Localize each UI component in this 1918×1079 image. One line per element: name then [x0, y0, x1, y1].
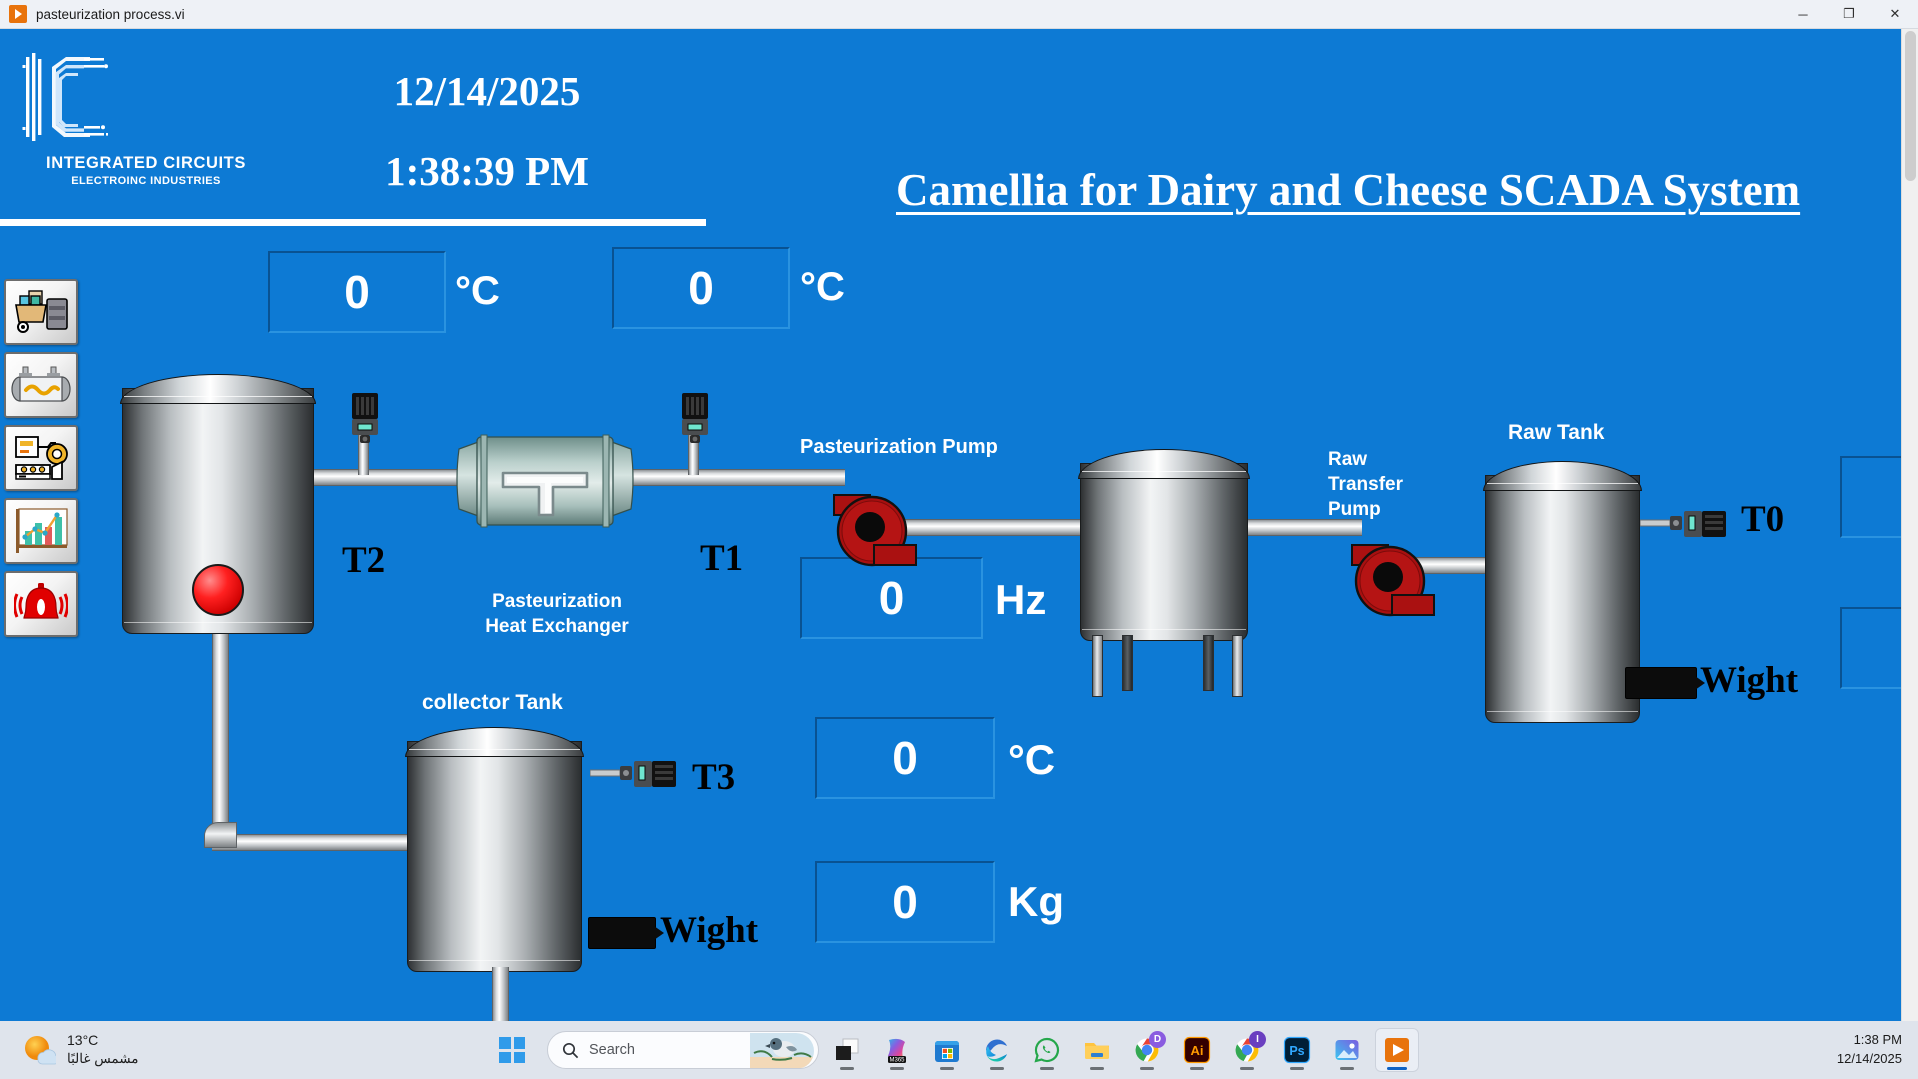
task-view-icon [834, 1037, 860, 1063]
balance-tank[interactable] [1080, 449, 1248, 641]
sidebar-item-production[interactable] [4, 425, 78, 491]
t1-sensor[interactable] [678, 393, 712, 454]
search-bird-image [750, 1033, 814, 1069]
running-indicator [1387, 1067, 1407, 1070]
collector-weight-transmitter[interactable] [588, 917, 656, 949]
running-indicator [1190, 1067, 1204, 1070]
svg-text:M365: M365 [889, 1058, 905, 1064]
taskbar-app-microsoft-edge[interactable] [975, 1028, 1019, 1072]
collector-tank[interactable] [407, 727, 582, 972]
labview-run-icon [9, 5, 27, 23]
search-placeholder: Search [589, 1042, 635, 1058]
whatsapp-icon [1033, 1036, 1061, 1064]
taskbar-app-microsoft-store[interactable] [925, 1028, 969, 1072]
heat-exchanger-label-line1: Pasteurization [452, 589, 662, 614]
pasteurizer-status-lamp[interactable] [192, 564, 244, 616]
ic-circuit-logo [22, 51, 108, 143]
taskbar-app-google-chrome-i[interactable]: I [1225, 1028, 1269, 1072]
pasteurization-pump-label: Pasteurization Pump [800, 434, 998, 460]
tank-base [1082, 629, 1246, 637]
taskbar-center-group: Search [499, 1028, 1419, 1072]
heat-exchanger-label: Pasteurization Heat Exchanger [452, 589, 662, 639]
company-logo-block: INTEGRATED CIRCUITS ELECTROINC INDUSTRIE… [12, 51, 292, 187]
tank-rim [124, 396, 312, 404]
taskbar-app-google-chrome-d[interactable]: D [1125, 1028, 1169, 1072]
sidebar-item-alarms[interactable] [4, 571, 78, 637]
t2-temperature-value: 0 [344, 265, 370, 319]
t3-sensor[interactable] [590, 757, 680, 796]
heat-exchanger-label-line2: Heat Exchanger [452, 614, 662, 639]
pipe-pasteurizer-drop [212, 629, 229, 839]
chrome-profile-badge: D [1149, 1031, 1166, 1048]
tank-body [407, 741, 582, 972]
microsoft-365-icon: M365 [883, 1036, 911, 1064]
running-indicator [1290, 1067, 1304, 1070]
t1-tag-label: T1 [700, 537, 743, 580]
window-title: pasteurization process.vi [36, 7, 185, 22]
vertical-scrollbar[interactable]: ▲ ▼ [1901, 29, 1918, 1049]
tank-rim [1082, 471, 1246, 479]
sidebar-item-trends[interactable] [4, 498, 78, 564]
taskbar-app-task-view[interactable] [825, 1028, 869, 1072]
taskbar-app-photos[interactable] [1325, 1028, 1369, 1072]
alarm-bell-icon [14, 581, 68, 627]
date-display: 12/14/2025 [337, 67, 637, 115]
adobe-illustrator-icon: Ai [1183, 1036, 1211, 1064]
t2-tag-label: T2 [342, 539, 385, 582]
window-title-bar: pasteurization process.vi ─ ❐ ✕ [0, 0, 1918, 29]
taskbar-clock[interactable]: 1:38 PM 12/14/2025 [1837, 1031, 1902, 1069]
raw-transfer-pump-label: Raw Transfer Pump [1328, 447, 1458, 522]
raw-tank-label: Raw Tank [1508, 419, 1604, 447]
raw-tank[interactable] [1485, 461, 1640, 723]
collector-tank-label: collector Tank [422, 689, 563, 717]
running-indicator [1090, 1067, 1104, 1070]
microsoft-store-icon [933, 1036, 961, 1064]
chrome-profile-badge: I [1249, 1031, 1266, 1048]
t3-temperature-unit: °C [1008, 736, 1055, 784]
raw-transfer-pump[interactable] [1348, 539, 1444, 632]
weather-temperature: 13°C [67, 1031, 139, 1050]
collector-weight-label: Wight [660, 909, 758, 952]
balance-tank-leg [1203, 635, 1214, 691]
collector-weight-value: 0 [892, 875, 918, 929]
running-indicator [890, 1067, 904, 1070]
tank-base [124, 622, 312, 630]
close-button[interactable]: ✕ [1872, 0, 1918, 29]
search-input[interactable]: Search [547, 1031, 819, 1069]
tank-body [1485, 475, 1640, 723]
svg-text:Ps: Ps [1289, 1044, 1304, 1058]
time-display: 1:38:39 PM [337, 147, 637, 195]
windows-taskbar: 13°C مشمس غالبًا Search [0, 1021, 1918, 1079]
collector-tank-drain [492, 967, 509, 1029]
t1-temperature-indicator[interactable]: 0 [612, 247, 790, 329]
t0-sensor[interactable] [1640, 507, 1730, 546]
adobe-photoshop-icon: Ps [1283, 1036, 1311, 1064]
labview-icon [1383, 1036, 1411, 1064]
chart-icon [13, 507, 69, 555]
taskbar-app-microsoft-365[interactable]: M365 [875, 1028, 919, 1072]
taskbar-app-whatsapp[interactable] [1025, 1028, 1069, 1072]
tank-rim [409, 749, 580, 757]
sidebar-item-heat-exchanger[interactable] [4, 352, 78, 418]
raw-weight-transmitter[interactable] [1625, 667, 1697, 699]
minimize-button[interactable]: ─ [1780, 0, 1826, 29]
svg-text:Ai: Ai [1191, 1043, 1204, 1058]
running-indicator [990, 1067, 1004, 1070]
running-indicator [940, 1067, 954, 1070]
clock-date: 12/14/2025 [1837, 1050, 1902, 1069]
file-explorer-icon [1083, 1036, 1111, 1064]
start-button[interactable] [499, 1037, 525, 1063]
company-subtitle: ELECTROINC INDUSTRIES [12, 175, 280, 187]
tank-body [1080, 463, 1248, 641]
pipe-exchanger-outlet [630, 469, 845, 486]
weather-description: مشمس غالبًا [67, 1050, 139, 1068]
t0-tag-label: T0 [1741, 498, 1784, 541]
navigation-sidebar [4, 279, 80, 644]
raw-weight-label: Wight [1700, 659, 1798, 702]
weather-widget[interactable]: 13°C مشمس غالبًا [22, 1031, 139, 1068]
heat-exchanger-icon [11, 364, 71, 406]
raw-transfer-pump-line2: Transfer [1328, 472, 1458, 497]
raw-transfer-pump-line1: Raw [1328, 447, 1458, 472]
clock-time: 1:38 PM [1837, 1031, 1902, 1050]
search-icon [562, 1042, 579, 1059]
t3-tag-label: T3 [692, 756, 735, 799]
photos-icon [1333, 1036, 1361, 1064]
collector-weight-unit: Kg [1008, 878, 1064, 926]
pipe-exchanger-inlet [300, 469, 460, 486]
header-divider [0, 219, 706, 226]
company-name: INTEGRATED CIRCUITS [12, 154, 280, 173]
pump-frequency-unit: Hz [995, 576, 1046, 624]
window-controls: ─ ❐ ✕ [1780, 0, 1918, 29]
tank-rim [1487, 483, 1638, 491]
sidebar-item-receiving[interactable] [4, 279, 78, 345]
taskbar-app-adobe-illustrator[interactable]: Ai [1175, 1028, 1219, 1072]
cart-barrel-icon [12, 287, 70, 337]
taskbar-app-labview[interactable] [1375, 1028, 1419, 1072]
t2-temperature-unit: °C [455, 269, 500, 314]
running-indicator [840, 1067, 854, 1070]
t2-temperature-indicator[interactable]: 0 [268, 251, 446, 333]
t1-temperature-value: 0 [688, 261, 714, 315]
page-title: Camellia for Dairy and Cheese SCADA Syst… [896, 164, 1800, 216]
raw-transfer-pump-line3: Pump [1328, 497, 1458, 522]
pipe-elbow [204, 822, 237, 848]
pipe-collector-inlet [212, 834, 412, 851]
pasteurization-pump[interactable] [830, 489, 926, 582]
running-indicator [1040, 1067, 1054, 1070]
t3-temperature-indicator[interactable]: 0 [815, 717, 995, 799]
maximize-button[interactable]: ❐ [1826, 0, 1872, 29]
running-indicator [1140, 1067, 1154, 1070]
taskbar-app-file-explorer[interactable] [1075, 1028, 1119, 1072]
tank-base [1487, 711, 1638, 719]
t3-temperature-value: 0 [892, 731, 918, 785]
scrollbar-thumb[interactable] [1905, 31, 1916, 181]
running-indicator [1240, 1067, 1254, 1070]
balance-tank-leg [1122, 635, 1133, 691]
weather-text: 13°C مشمس غالبًا [67, 1031, 139, 1068]
weather-sun-cloud-icon [22, 1033, 56, 1067]
collector-weight-indicator[interactable]: 0 [815, 861, 995, 943]
microsoft-edge-icon [983, 1036, 1011, 1064]
t2-sensor[interactable] [348, 393, 382, 454]
taskbar-app-adobe-photoshop[interactable]: Ps [1275, 1028, 1319, 1072]
running-indicator [1340, 1067, 1354, 1070]
t1-temperature-unit: °C [800, 265, 845, 310]
balance-tank-leg [1232, 635, 1243, 697]
scada-canvas: INTEGRATED CIRCUITS ELECTROINC INDUSTRIE… [0, 29, 1918, 1049]
production-line-icon [12, 434, 70, 482]
balance-tank-leg [1092, 635, 1103, 697]
